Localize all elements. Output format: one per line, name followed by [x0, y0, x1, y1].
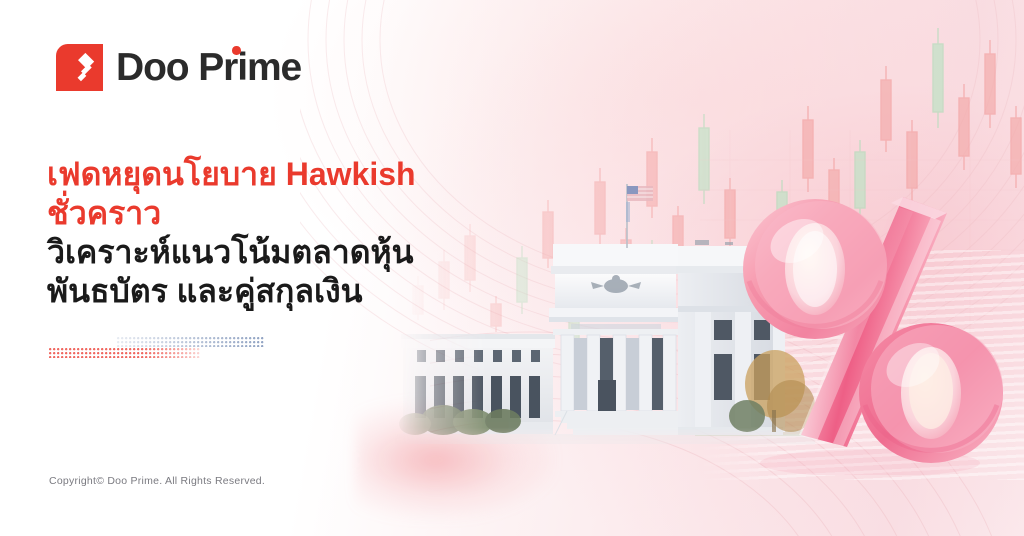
headline-line-1: เฟดหยุดนโยบาย Hawkish — [47, 155, 477, 194]
decorative-dot-bar-blue — [117, 337, 264, 347]
brand-wordmark-text: Doo Prime — [116, 46, 301, 89]
decorative-dot-bars — [49, 337, 264, 361]
promo-banner: Doo Prime เฟดหยุดนโยบาย Hawkish ชั่วคราว… — [0, 0, 1024, 536]
us-flag — [626, 184, 653, 248]
brand-logo[interactable]: Doo Prime — [56, 44, 301, 91]
headline-line-4: พันธบัตร และคู่สกุลเงิน — [47, 272, 477, 311]
brand-wordmark: Doo Prime — [116, 48, 301, 87]
headline-block: เฟดหยุดนโยบาย Hawkish ชั่วคราว วิเคราะห์… — [47, 155, 477, 311]
decorative-dot-bar-red — [49, 348, 201, 358]
logo-i-dot — [232, 46, 241, 55]
percent-symbol-graphic — [735, 185, 1005, 475]
copyright-text: Copyright© Doo Prime. All Rights Reserve… — [49, 475, 265, 487]
doo-prime-logo-mark-icon — [56, 44, 103, 91]
headline-line-2: ชั่วคราว — [47, 194, 477, 233]
headline-line-3: วิเคราะห์แนวโน้มตลาดหุ้น — [47, 233, 477, 272]
